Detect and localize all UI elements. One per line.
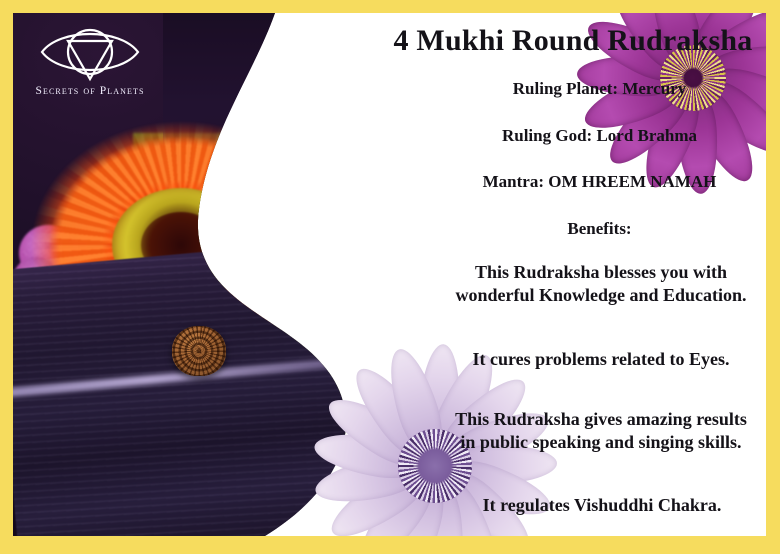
attribute-mantra: Mantra: OM HREEM NAMAH bbox=[433, 171, 766, 193]
benefit-item: It cures problems related to Eyes. bbox=[451, 348, 751, 371]
card-inner-panel: Secrets of Planets 4 Mukhi Round Rudraks… bbox=[13, 13, 766, 536]
attribute-ruling-god: Ruling God: Lord Brahma bbox=[433, 125, 766, 147]
benefit-item: This Rudraksha blesses you with wonderfu… bbox=[451, 261, 751, 307]
brand-logo: Secrets of Planets bbox=[20, 21, 160, 105]
third-eye-chakra-icon bbox=[38, 21, 142, 83]
benefit-item: It regulates Vishuddhi Chakra. bbox=[443, 494, 761, 517]
rudraksha-bead bbox=[172, 326, 226, 376]
rudraksha-info-card: Secrets of Planets 4 Mukhi Round Rudraks… bbox=[0, 0, 780, 554]
brand-name: Secrets of Planets bbox=[20, 85, 160, 97]
attribute-ruling-planet: Ruling Planet: Mercury bbox=[433, 78, 766, 100]
benefits-heading: Benefits: bbox=[433, 218, 766, 240]
page-title: 4 Mukhi Round Rudraksha bbox=[293, 24, 766, 58]
benefit-item: This Rudraksha gives amazing results in … bbox=[451, 408, 751, 454]
info-text-column: 4 Mukhi Round Rudraksha Ruling Planet: M… bbox=[433, 13, 766, 536]
